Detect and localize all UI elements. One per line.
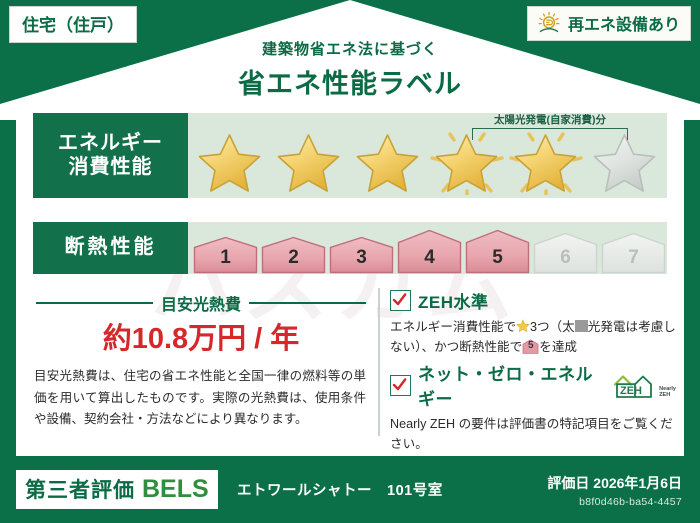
solar-note-text: 太陽光発電(自家消費)分 bbox=[464, 112, 636, 127]
insulation-scale-panel: 1234567 bbox=[188, 222, 667, 274]
star-icon-3 bbox=[348, 129, 427, 195]
insulation-level-number-2: 2 bbox=[261, 247, 326, 269]
inline-star-icon bbox=[516, 319, 530, 333]
star-3 bbox=[348, 125, 427, 197]
insulation-level-scale: 1234567 bbox=[193, 229, 666, 274]
solar-note-bracket bbox=[472, 128, 628, 140]
check-icon bbox=[392, 292, 407, 307]
evaluation-date: 評価日 2026年1月6日 bbox=[547, 473, 682, 493]
label-title-block: 建築物省エネ法に基づく 省エネ性能ラベル bbox=[0, 38, 700, 101]
zeh-house-logo-icon: ZEH bbox=[611, 371, 657, 399]
heading-rule-right bbox=[249, 302, 366, 304]
estimated-cost-heading-text: 目安光熱費 bbox=[161, 291, 241, 315]
star-1 bbox=[190, 125, 269, 197]
zeh-logo-text: ZEH bbox=[620, 385, 642, 397]
star-icon-2 bbox=[269, 129, 348, 195]
building-type-badge: 住宅（住戸） bbox=[9, 6, 137, 43]
inline-insulation-level-badge: 5 bbox=[522, 339, 539, 354]
star-2 bbox=[269, 125, 348, 197]
inline-level-number: 5 bbox=[522, 338, 539, 354]
star-icon-1 bbox=[190, 129, 269, 195]
zeh-standard-checkbox bbox=[390, 290, 411, 311]
insulation-level-1: 1 bbox=[193, 236, 258, 274]
insulation-level-6: 6 bbox=[533, 232, 598, 274]
heading-rule-left bbox=[36, 302, 153, 304]
zeh-logo-sub2: ZEH bbox=[659, 392, 670, 398]
solar-self-consumption-note: 太陽光発電(自家消費)分 bbox=[464, 112, 636, 140]
bels-certification-box: 第三者評価 BELS bbox=[16, 470, 218, 509]
zeh-body-end: を達成 bbox=[539, 340, 577, 354]
zeh-standard-heading: ZEH水準 bbox=[390, 288, 676, 313]
insulation-label: 断熱性能 bbox=[65, 236, 157, 260]
net-zero-energy-title: ネット・ゼロ・エネルギー bbox=[418, 360, 600, 410]
energy-performance-label-box: エネルギー 消費性能 bbox=[33, 113, 188, 198]
energy-stars-panel: 太陽光発電(自家消費)分 bbox=[188, 113, 667, 198]
insulation-level-number-1: 1 bbox=[193, 247, 258, 269]
net-zero-energy-body: Nearly ZEH の要件は評価書の特記項目をご覧ください。 bbox=[390, 414, 676, 455]
evaluation-info: 評価日 2026年1月6日 b8f0d46b-ba54-4457 bbox=[547, 473, 682, 508]
zeh-standard-body: エネルギー消費性能で3つ（太光発電は考慮しない）、かつ断熱性能で5を達成 bbox=[390, 317, 676, 358]
insulation-level-number-6: 6 bbox=[533, 247, 598, 269]
energy-performance-label: 住宅（住戸） 再エネ設備あり 建築物省エネ法に基づく 省エネ性能ラベル ハスカム… bbox=[0, 0, 700, 523]
insulation-performance-row: 断熱性能 1234567 bbox=[33, 222, 667, 274]
estimated-cost-value: 約10.8万円 / 年 bbox=[36, 315, 366, 357]
zeh-standard-block: ZEH水準 エネルギー消費性能で3つ（太光発電は考慮しない）、かつ断熱性能で5を… bbox=[390, 288, 676, 358]
insulation-level-number-7: 7 bbox=[601, 247, 666, 269]
renewable-equipment-label: 再エネ設備あり bbox=[568, 11, 680, 35]
bels-jp-label: 第三者評価 bbox=[25, 474, 135, 504]
footer-bar: 第三者評価 BELS エトワールシャトー 101号室 評価日 2026年1月6日… bbox=[0, 461, 700, 523]
energy-label-line1: エネルギー bbox=[58, 132, 163, 156]
estimated-cost-heading: 目安光熱費 bbox=[36, 291, 366, 315]
zeh-body-pre: エネルギー消費性能で bbox=[390, 320, 516, 334]
insulation-level-3: 3 bbox=[329, 236, 394, 274]
zeh-logo: ZEH Nearly ZEH bbox=[611, 371, 676, 399]
insulation-level-4: 4 bbox=[397, 229, 462, 274]
evaluation-id: b8f0d46b-ba54-4457 bbox=[547, 496, 682, 508]
label-title: 省エネ性能ラベル bbox=[0, 62, 700, 101]
insulation-level-number-4: 4 bbox=[397, 247, 462, 269]
insulation-level-7: 7 bbox=[601, 232, 666, 274]
renewable-equipment-badge: 再エネ設備あり bbox=[527, 6, 691, 41]
insulation-level-number-3: 3 bbox=[329, 247, 394, 269]
solar-sun-icon bbox=[536, 11, 562, 35]
energy-label-line2: 消費性能 bbox=[69, 156, 153, 180]
net-zero-energy-checkbox bbox=[390, 375, 411, 396]
net-zero-energy-block: ネット・ゼロ・エネルギー ZEH Nearly ZEH Nearly ZEH の… bbox=[390, 360, 676, 455]
insulation-level-2: 2 bbox=[261, 236, 326, 274]
redaction-box bbox=[575, 320, 588, 332]
insulation-label-box: 断熱性能 bbox=[33, 222, 188, 274]
insulation-level-5: 5 bbox=[465, 229, 530, 274]
net-zero-energy-heading: ネット・ゼロ・エネルギー ZEH Nearly ZEH bbox=[390, 360, 676, 410]
zeh-logo-subtext: Nearly ZEH bbox=[659, 387, 676, 399]
column-divider bbox=[378, 288, 380, 436]
zeh-standard-title: ZEH水準 bbox=[418, 288, 489, 313]
check-icon bbox=[392, 377, 407, 392]
insulation-level-number-5: 5 bbox=[465, 247, 530, 269]
zeh-body-mid: 3つ（太 bbox=[530, 320, 575, 334]
bels-en-label: BELS bbox=[142, 475, 209, 504]
energy-performance-row: エネルギー 消費性能 太陽光発電(自家消費)分 bbox=[33, 113, 667, 198]
estimated-cost-description: 目安光熱費は、住宅の省エネ性能と全国一律の燃料等の単価を用いて算出したものです。… bbox=[34, 366, 366, 431]
building-name: エトワールシャトー 101号室 bbox=[237, 479, 443, 500]
